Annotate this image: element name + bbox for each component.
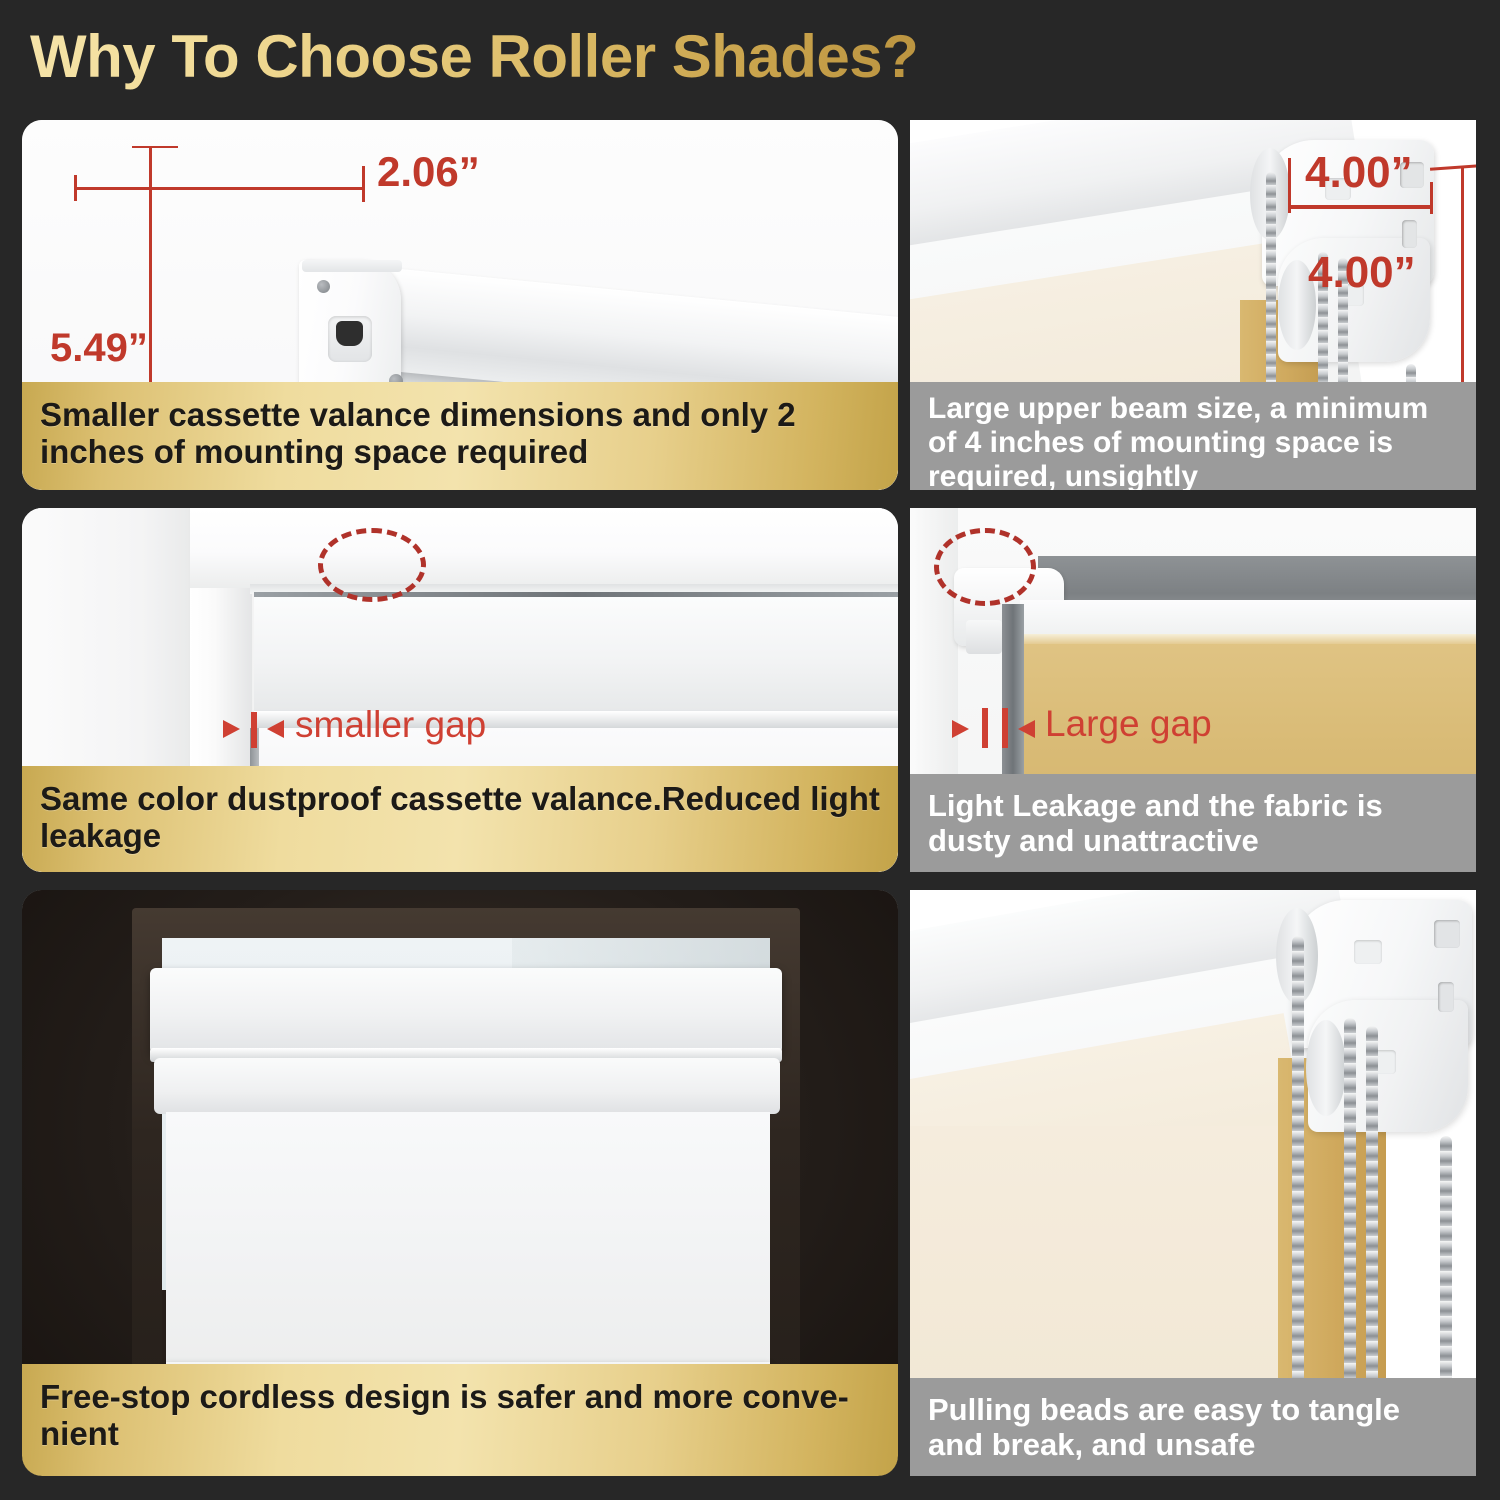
panel-3-window-header	[190, 508, 898, 588]
panel-3-gap-bar	[251, 712, 257, 748]
width-dim-label: 2.06”	[377, 148, 480, 196]
panel-3-gap-label: smaller gap	[295, 704, 486, 746]
panel-4-gap-bar-2	[1002, 708, 1008, 748]
infographic-root: Why To Choose Roller Shades?	[0, 0, 1500, 1500]
panel-large-upper-beam: 4.00” 4.00” Large upper beam size, a min…	[910, 120, 1476, 490]
page-title: Why To Choose Roller Shades?	[30, 22, 918, 91]
end-cap-screw-top-icon	[317, 280, 330, 293]
panel-2-height-dim-line	[1461, 166, 1464, 384]
panel-6-bracket-slot-1-icon	[1434, 920, 1460, 948]
height-dim-label: 5.49”	[50, 326, 148, 371]
panel-3-arrow-right	[267, 720, 284, 738]
panel-5-shade-fabric	[166, 1112, 770, 1382]
panel-6-bracket-slot-2-icon	[1438, 982, 1454, 1012]
panel-light-leakage: Large gap Light Leakage and the fabric i…	[910, 508, 1476, 872]
panel-2-width-tick-right	[1430, 182, 1433, 214]
panel-4-bracket-piece	[966, 620, 1002, 654]
panel-4-light-leak-band	[1020, 634, 1476, 644]
panel-3-caption: Same color dustproof cassette valance.Re…	[22, 766, 898, 872]
width-dim-line	[74, 187, 365, 190]
panel-pulling-beads: Pulling beads are easy to tangle and bre…	[910, 890, 1476, 1476]
panel-1-caption: Smaller cassette valance dimensions and …	[22, 382, 898, 490]
panel-5-roller-tube	[154, 1058, 780, 1114]
panel-5-cassette-valance	[150, 968, 782, 1054]
panel-2-width-tick-left	[1288, 158, 1291, 213]
panel-4-caption: Light Leakage and the fabric is dusty an…	[910, 774, 1476, 872]
width-dim-tick-right	[362, 166, 365, 202]
end-cap-top-lip	[302, 260, 402, 272]
panel-smaller-cassette: 5.49” 2.06” Smaller cassette valance dim…	[22, 120, 898, 490]
panel-4-arrow-left	[952, 720, 969, 738]
panel-6-roller-disc-lower	[1306, 1020, 1346, 1116]
panel-same-color-valance: smaller gap Same color dustproof cassett…	[22, 508, 898, 872]
panel-3-highlight-ellipse	[318, 528, 426, 602]
width-dim-tick-left	[74, 175, 77, 201]
panel-2-width-dim-line	[1288, 205, 1433, 209]
panel-4-gap-label: Large gap	[1045, 703, 1212, 745]
panel-4-highlight-ellipse	[934, 528, 1036, 606]
panel-2-height-label: 4.00”	[1308, 248, 1416, 298]
panel-6-caption: Pulling beads are easy to tangle and bre…	[910, 1378, 1476, 1476]
panel-2-caption: Large upper beam size, a minimum of 4 in…	[910, 382, 1476, 490]
panel-4-arrow-right	[1018, 720, 1035, 738]
end-cap-clutch-slot-icon	[336, 321, 363, 346]
panel-free-stop-cordless: Free-stop cordless design is safer and m…	[22, 890, 898, 1476]
bracket-slot-2-icon	[1402, 220, 1417, 248]
panel-5-caption: Free-stop cordless design is safer and m…	[22, 1364, 898, 1476]
panel-4-gap-bar-1	[982, 708, 988, 748]
height-dim-tick-top	[132, 146, 178, 148]
panel-2-width-label: 4.00”	[1305, 148, 1413, 198]
panel-3-valance-band	[254, 597, 898, 715]
panel-3-arrow-left	[223, 720, 240, 738]
panel-6-bracket-emboss-1-icon	[1354, 940, 1382, 964]
